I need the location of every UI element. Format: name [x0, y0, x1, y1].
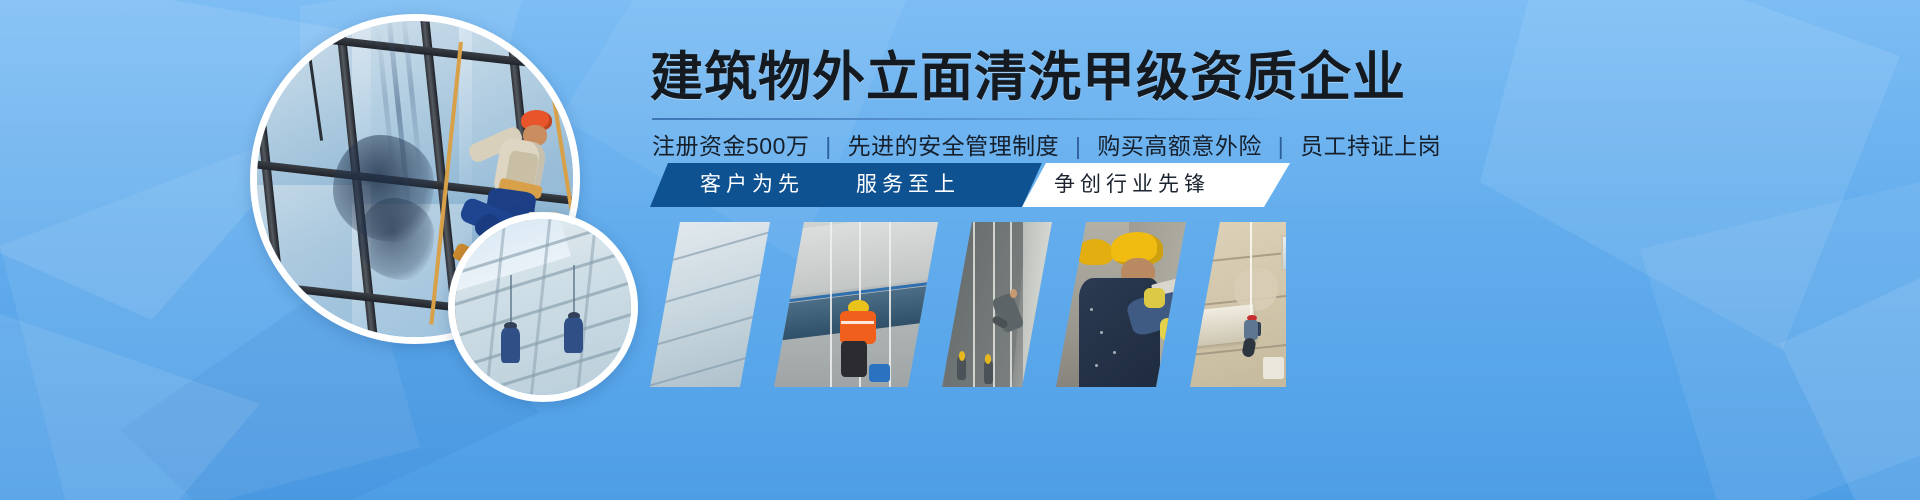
photo-strip — [650, 222, 1286, 387]
strip-slide-1 — [650, 222, 770, 387]
subline-separator-2: | — [1075, 133, 1081, 159]
subline: 注册资金500万 | 先进的安全管理制度 | 购买高额意外险 | 员工持证上岗 — [652, 127, 1441, 161]
concrete-building-worker-scene — [774, 222, 938, 387]
subline-item-4: 员工持证上岗 — [1300, 133, 1441, 159]
banner-content: 建筑物外立面清洗甲级资质企业 注册资金500万 | 先进的安全管理制度 | 购买… — [650, 0, 1920, 500]
photo-cluster — [240, 0, 660, 500]
headline: 建筑物外立面清洗甲级资质企业 — [650, 50, 1406, 106]
slogan-service-supreme: 服务至上 — [856, 163, 960, 207]
strip-slide-5 — [1190, 222, 1286, 387]
rappelling-worker — [1242, 318, 1263, 361]
slogan-customer-first: 客户为先 — [700, 163, 804, 207]
facade-worker-left — [501, 328, 520, 363]
subline-item-2: 先进的安全管理制度 — [848, 133, 1060, 159]
light-facade-scene — [650, 222, 770, 387]
metal-facade-scene — [455, 219, 631, 395]
yellow-glove-upper — [1144, 288, 1165, 308]
grey-wall-rappeller-scene — [942, 222, 1052, 387]
strip-slide-3 — [942, 222, 1052, 387]
subline-separator-1: | — [825, 133, 831, 159]
circle-photo-secondary — [448, 212, 638, 402]
headline-underline — [652, 118, 1292, 120]
strip-slide-2 — [774, 222, 938, 387]
rappelling-painter — [997, 295, 1019, 331]
strip-slide-4 — [1056, 222, 1186, 387]
promo-banner: 建筑物外立面清洗甲级资质企业 注册资金500万 | 先进的安全管理制度 | 购买… — [0, 0, 1920, 500]
subline-separator-3: | — [1278, 133, 1284, 159]
apartment-rappeller-scene — [1190, 222, 1286, 387]
plastering-worker-scene — [1056, 222, 1186, 387]
white-bucket — [1263, 357, 1284, 378]
slogan-ribbon: 客户为先 服务至上 争创行业先锋 — [650, 163, 1290, 207]
slogan-industry-pioneer: 争创行业先锋 — [1054, 163, 1210, 207]
blue-pail — [869, 364, 890, 382]
apartment-window — [1281, 235, 1286, 271]
subline-item-3: 购买高额意外险 — [1097, 133, 1262, 159]
subline-item-1: 注册资金500万 — [652, 133, 809, 159]
orange-safety-vest — [840, 311, 876, 344]
facade-worker-right — [564, 318, 583, 353]
yellow-glove-lower — [1160, 318, 1186, 341]
second-yellow-helmet — [1077, 239, 1113, 265]
